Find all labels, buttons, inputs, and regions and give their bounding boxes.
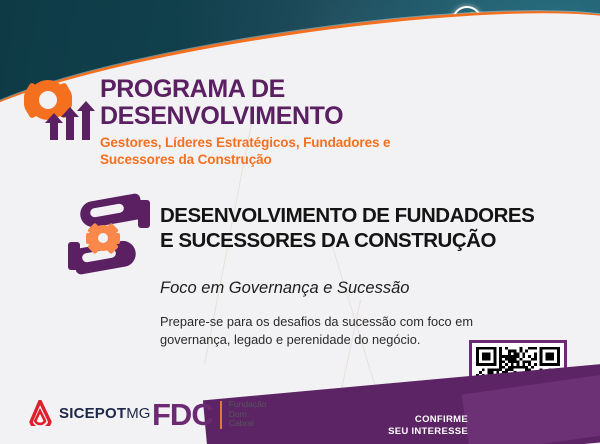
course-subheading: Foco em Governança e Sucessão (160, 278, 580, 298)
qr-cta-text: CONFIRME SEU INTERESSE (388, 414, 468, 438)
sicepot-mg-logo[interactable]: SICEPOTMG (28, 400, 150, 426)
fdc-word-3: Cabral (229, 419, 267, 429)
fdc-logo[interactable]: FDC Fundação Dom Cabral (152, 399, 267, 430)
fdc-divider (220, 401, 222, 429)
course-heading-line2: E SUCESSORES DA CONSTRUÇÃO (160, 228, 580, 253)
sicepot-name: SICEPOT (59, 405, 126, 422)
program-title-block: PROGRAMA DE DESENVOLVIMENTO Gestores, Lí… (22, 76, 442, 168)
qr-cta-line2: SEU INTERESSE (388, 426, 468, 438)
qr-cta-line1: CONFIRME (388, 414, 468, 426)
sicepot-wordmark: SICEPOTMG (59, 405, 150, 422)
fdc-wordmark: Fundação Dom Cabral (229, 400, 267, 429)
growth-arrow-small (50, 122, 58, 140)
gear-growth-arrows-icon (22, 80, 88, 138)
gear-center-hole (39, 91, 57, 109)
program-subtitle-line1: Gestores, Líderes Estratégicos, Fundador… (100, 135, 442, 152)
gear-center-hole (98, 233, 108, 243)
growth-arrow-large (82, 110, 90, 140)
program-title-line2: DESENVOLVIMENTO (100, 103, 442, 130)
course-description: Prepare-se para os desafios da sucessão … (160, 313, 490, 348)
course-heading-line1: DESENVOLVIMENTO DE FUNDADORES (160, 203, 580, 228)
sicepot-suffix: MG (126, 405, 150, 422)
accent-bar-left (68, 242, 80, 270)
growth-arrow-medium (66, 116, 74, 140)
poster-root: PROGRAMA DE DESENVOLVIMENTO Gestores, Lí… (0, 0, 600, 444)
hands-holding-gear-icon (68, 198, 152, 272)
accent-bar-right (138, 200, 150, 228)
program-title-line1: PROGRAMA DE (100, 76, 442, 103)
footer: CONFIRME SEU INTERESSE SICEPOTMG FDC Fun… (0, 384, 600, 444)
fdc-letters: FDC (152, 399, 213, 430)
sicepot-droplet-icon (28, 400, 52, 426)
course-text-block: DESENVOLVIMENTO DE FUNDADORES E SUCESSOR… (160, 203, 580, 348)
program-subtitle-line2: Sucessores da Construção (100, 152, 442, 169)
